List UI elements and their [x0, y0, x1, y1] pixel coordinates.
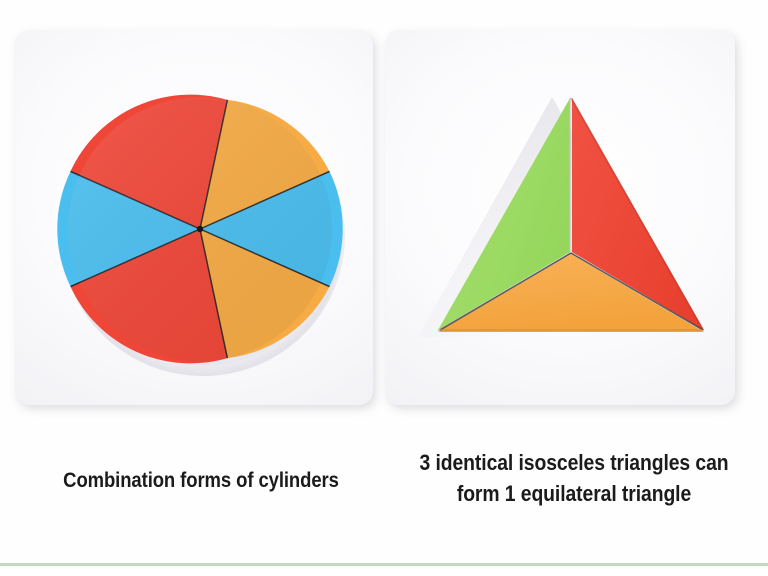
triangle-caption-line-1: 3 identical isosceles triangles can: [405, 447, 743, 478]
disc-sheen: [68, 97, 332, 361]
triangle-caption-line-2: form 1 equilateral triangle: [405, 478, 743, 509]
photo-card-row: [0, 0, 768, 420]
cylinder-caption: Combination forms of cylinders: [33, 466, 369, 496]
equilateral-triangle-illustration: [385, 30, 735, 405]
triangle-caption: 3 identical isosceles triangles can form…: [405, 447, 743, 509]
cylinder-photo-card[interactable]: [15, 30, 373, 405]
bottom-strip: [0, 566, 768, 576]
product-detail-page: Combination forms of cylinders 3 identic…: [0, 0, 768, 576]
sectioned-circle-illustration: [15, 30, 373, 405]
triangle-photo-card[interactable]: [385, 30, 735, 405]
